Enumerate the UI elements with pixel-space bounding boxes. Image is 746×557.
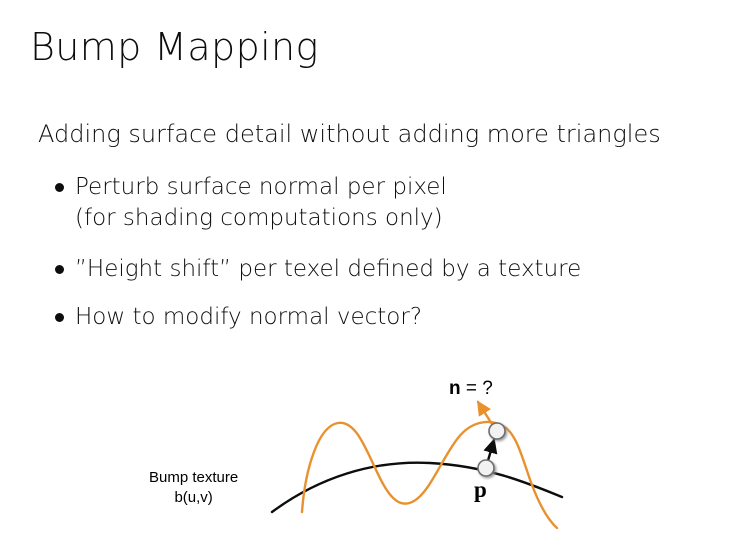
bullet-dot-icon	[55, 313, 64, 322]
bullet-item-2-label: ”Height shift” per texel defined by a te…	[75, 254, 581, 285]
bullet-item-1: Perturb surface normal per pixel (for sh…	[55, 172, 447, 234]
normal-label-symbol: n	[449, 378, 461, 399]
bump-texture-label-line1: Bump texture	[149, 468, 238, 488]
bump-texture-label-line2: b(u,v)	[149, 488, 238, 508]
normal-label: n = ?	[449, 378, 493, 400]
shifted-point-node	[489, 423, 505, 439]
point-label: p	[474, 477, 487, 503]
diagram-svg	[0, 360, 746, 557]
bullet-dot-icon	[55, 183, 64, 192]
slide-canvas: Bump Mapping Adding surface detail witho…	[0, 0, 746, 557]
bullet-item-3-label: How to modify normal vector?	[75, 302, 422, 333]
page-title: Bump Mapping	[30, 27, 319, 69]
bump-texture-label: Bump texture b(u,v)	[149, 468, 238, 509]
normal-label-rest: = ?	[461, 378, 493, 399]
surface-point-node	[478, 460, 494, 476]
bullet-dot-icon	[55, 265, 64, 274]
bump-mapping-diagram: n = ? p Bump texture b(u,v)	[0, 360, 746, 557]
slide-subtitle: Adding surface detail without adding mor…	[38, 120, 661, 148]
surface-curve	[272, 463, 562, 512]
bullet-item-2: ”Height shift” per texel defined by a te…	[55, 254, 581, 285]
bullet-item-1-label: Perturb surface normal per pixel (for sh…	[75, 172, 447, 234]
bullet-item-3: How to modify normal vector?	[55, 302, 422, 333]
